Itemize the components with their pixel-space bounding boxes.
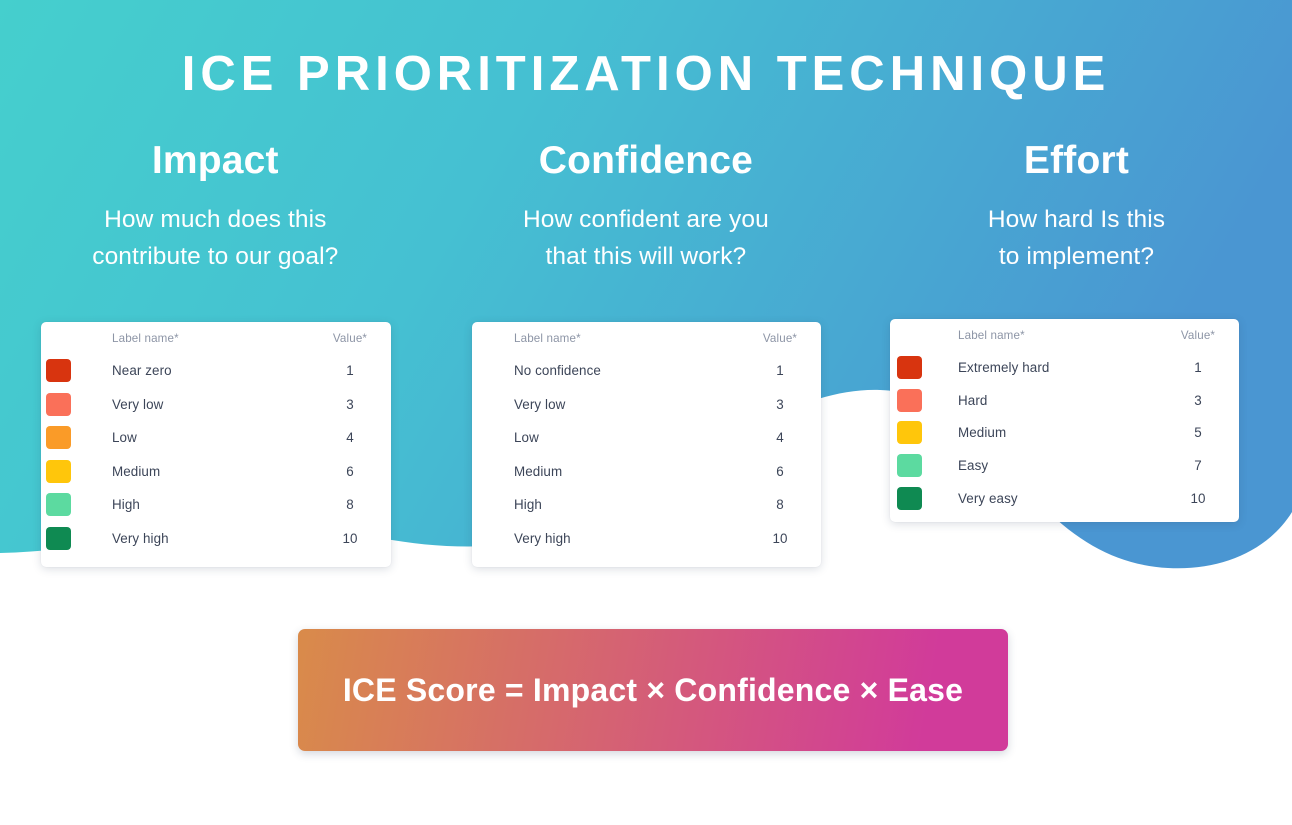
color-swatch-cell — [890, 356, 952, 379]
table-row: Easy7 — [890, 449, 1239, 482]
row-value: 10 — [321, 531, 391, 546]
table-body-impact: Near zero1Very low3Low4Medium6High8Very … — [41, 354, 391, 555]
color-swatch-icon — [897, 389, 922, 412]
color-swatch-cell — [41, 493, 95, 516]
color-swatch-cell — [41, 426, 95, 449]
table-row: Very low3 — [41, 388, 391, 422]
row-value: 1 — [751, 363, 821, 378]
color-swatch-cell — [41, 393, 95, 416]
table-row: Medium6 — [41, 455, 391, 489]
row-label: Low — [490, 430, 751, 445]
row-value: 3 — [321, 397, 391, 412]
color-swatch-icon — [897, 454, 922, 477]
table-row: Hard3 — [890, 384, 1239, 417]
row-label: Extremely hard — [952, 360, 1169, 375]
row-value: 1 — [321, 363, 391, 378]
row-value: 6 — [321, 464, 391, 479]
table-header-row-impact: Label name* Value* — [41, 322, 391, 354]
row-label: Near zero — [95, 363, 321, 378]
table-row: No confidence1 — [472, 354, 821, 388]
infographic-root: ICE PRIORITIZATION TECHNIQUE Impact How … — [0, 0, 1292, 825]
row-value: 8 — [751, 497, 821, 512]
scale-card-confidence: Label name* Value* No confidence1Very lo… — [472, 322, 821, 567]
table-row: Extremely hard1 — [890, 351, 1239, 384]
color-swatch-icon — [897, 487, 922, 510]
table-row: Low4 — [472, 421, 821, 455]
color-swatch-cell — [41, 527, 95, 550]
color-swatch-icon — [897, 421, 922, 444]
color-swatch-icon — [46, 493, 71, 516]
row-value: 3 — [1169, 393, 1239, 408]
color-swatch-icon — [46, 426, 71, 449]
row-label: Very high — [490, 531, 751, 546]
color-swatch-icon — [46, 359, 71, 382]
row-value: 4 — [321, 430, 391, 445]
column-header-label-confidence: Label name* — [490, 332, 751, 345]
table-body-effort: Extremely hard1Hard3Medium5Easy7Very eas… — [890, 351, 1239, 515]
color-swatch-icon — [46, 460, 71, 483]
column-header-label-impact: Label name* — [95, 332, 321, 345]
table-row: Low4 — [41, 421, 391, 455]
column-header-value-effort: Value* — [1169, 329, 1239, 342]
scale-card-impact: Label name* Value* Near zero1Very low3Lo… — [41, 322, 391, 567]
color-swatch-icon — [46, 393, 71, 416]
row-label: Easy — [952, 458, 1169, 473]
table-row: High8 — [41, 488, 391, 522]
color-swatch-cell — [41, 359, 95, 382]
color-swatch-cell — [890, 487, 952, 510]
row-label: Medium — [95, 464, 321, 479]
row-label: Very low — [490, 397, 751, 412]
color-swatch-icon — [897, 356, 922, 379]
row-value: 3 — [751, 397, 821, 412]
column-header-value-impact: Value* — [321, 332, 391, 345]
table-row: High8 — [472, 488, 821, 522]
table-row: Very high10 — [472, 522, 821, 556]
row-label: Medium — [952, 425, 1169, 440]
table-row: Medium6 — [472, 455, 821, 489]
row-value: 4 — [751, 430, 821, 445]
color-swatch-cell — [890, 421, 952, 444]
row-label: Hard — [952, 393, 1169, 408]
row-label: High — [490, 497, 751, 512]
table-row: Medium5 — [890, 417, 1239, 450]
color-swatch-cell — [890, 454, 952, 477]
row-value: 10 — [1169, 491, 1239, 506]
row-label: Low — [95, 430, 321, 445]
table-header-row-effort: Label name* Value* — [890, 319, 1239, 351]
row-value: 1 — [1169, 360, 1239, 375]
row-label: Very high — [95, 531, 321, 546]
row-value: 6 — [751, 464, 821, 479]
ice-score-formula-text: ICE Score = Impact × Confidence × Ease — [343, 672, 963, 709]
color-swatch-cell — [41, 460, 95, 483]
color-swatch-cell — [890, 389, 952, 412]
row-label: Very easy — [952, 491, 1169, 506]
ice-score-formula-banner: ICE Score = Impact × Confidence × Ease — [298, 629, 1008, 751]
row-value: 8 — [321, 497, 391, 512]
table-row: Very high10 — [41, 522, 391, 556]
column-header-value-confidence: Value* — [751, 332, 821, 345]
row-label: High — [95, 497, 321, 512]
column-header-label-effort: Label name* — [952, 329, 1169, 342]
row-label: Very low — [95, 397, 321, 412]
scale-card-effort: Label name* Value* Extremely hard1Hard3M… — [890, 319, 1239, 522]
color-swatch-icon — [46, 527, 71, 550]
table-header-row-confidence: Label name* Value* — [472, 322, 821, 354]
row-value: 5 — [1169, 425, 1239, 440]
table-row: Near zero1 — [41, 354, 391, 388]
row-value: 10 — [751, 531, 821, 546]
table-body-confidence: No confidence1Very low3Low4Medium6High8V… — [472, 354, 821, 555]
table-row: Very easy10 — [890, 482, 1239, 515]
table-row: Very low3 — [472, 388, 821, 422]
row-label: Medium — [490, 464, 751, 479]
row-label: No confidence — [490, 363, 751, 378]
row-value: 7 — [1169, 458, 1239, 473]
